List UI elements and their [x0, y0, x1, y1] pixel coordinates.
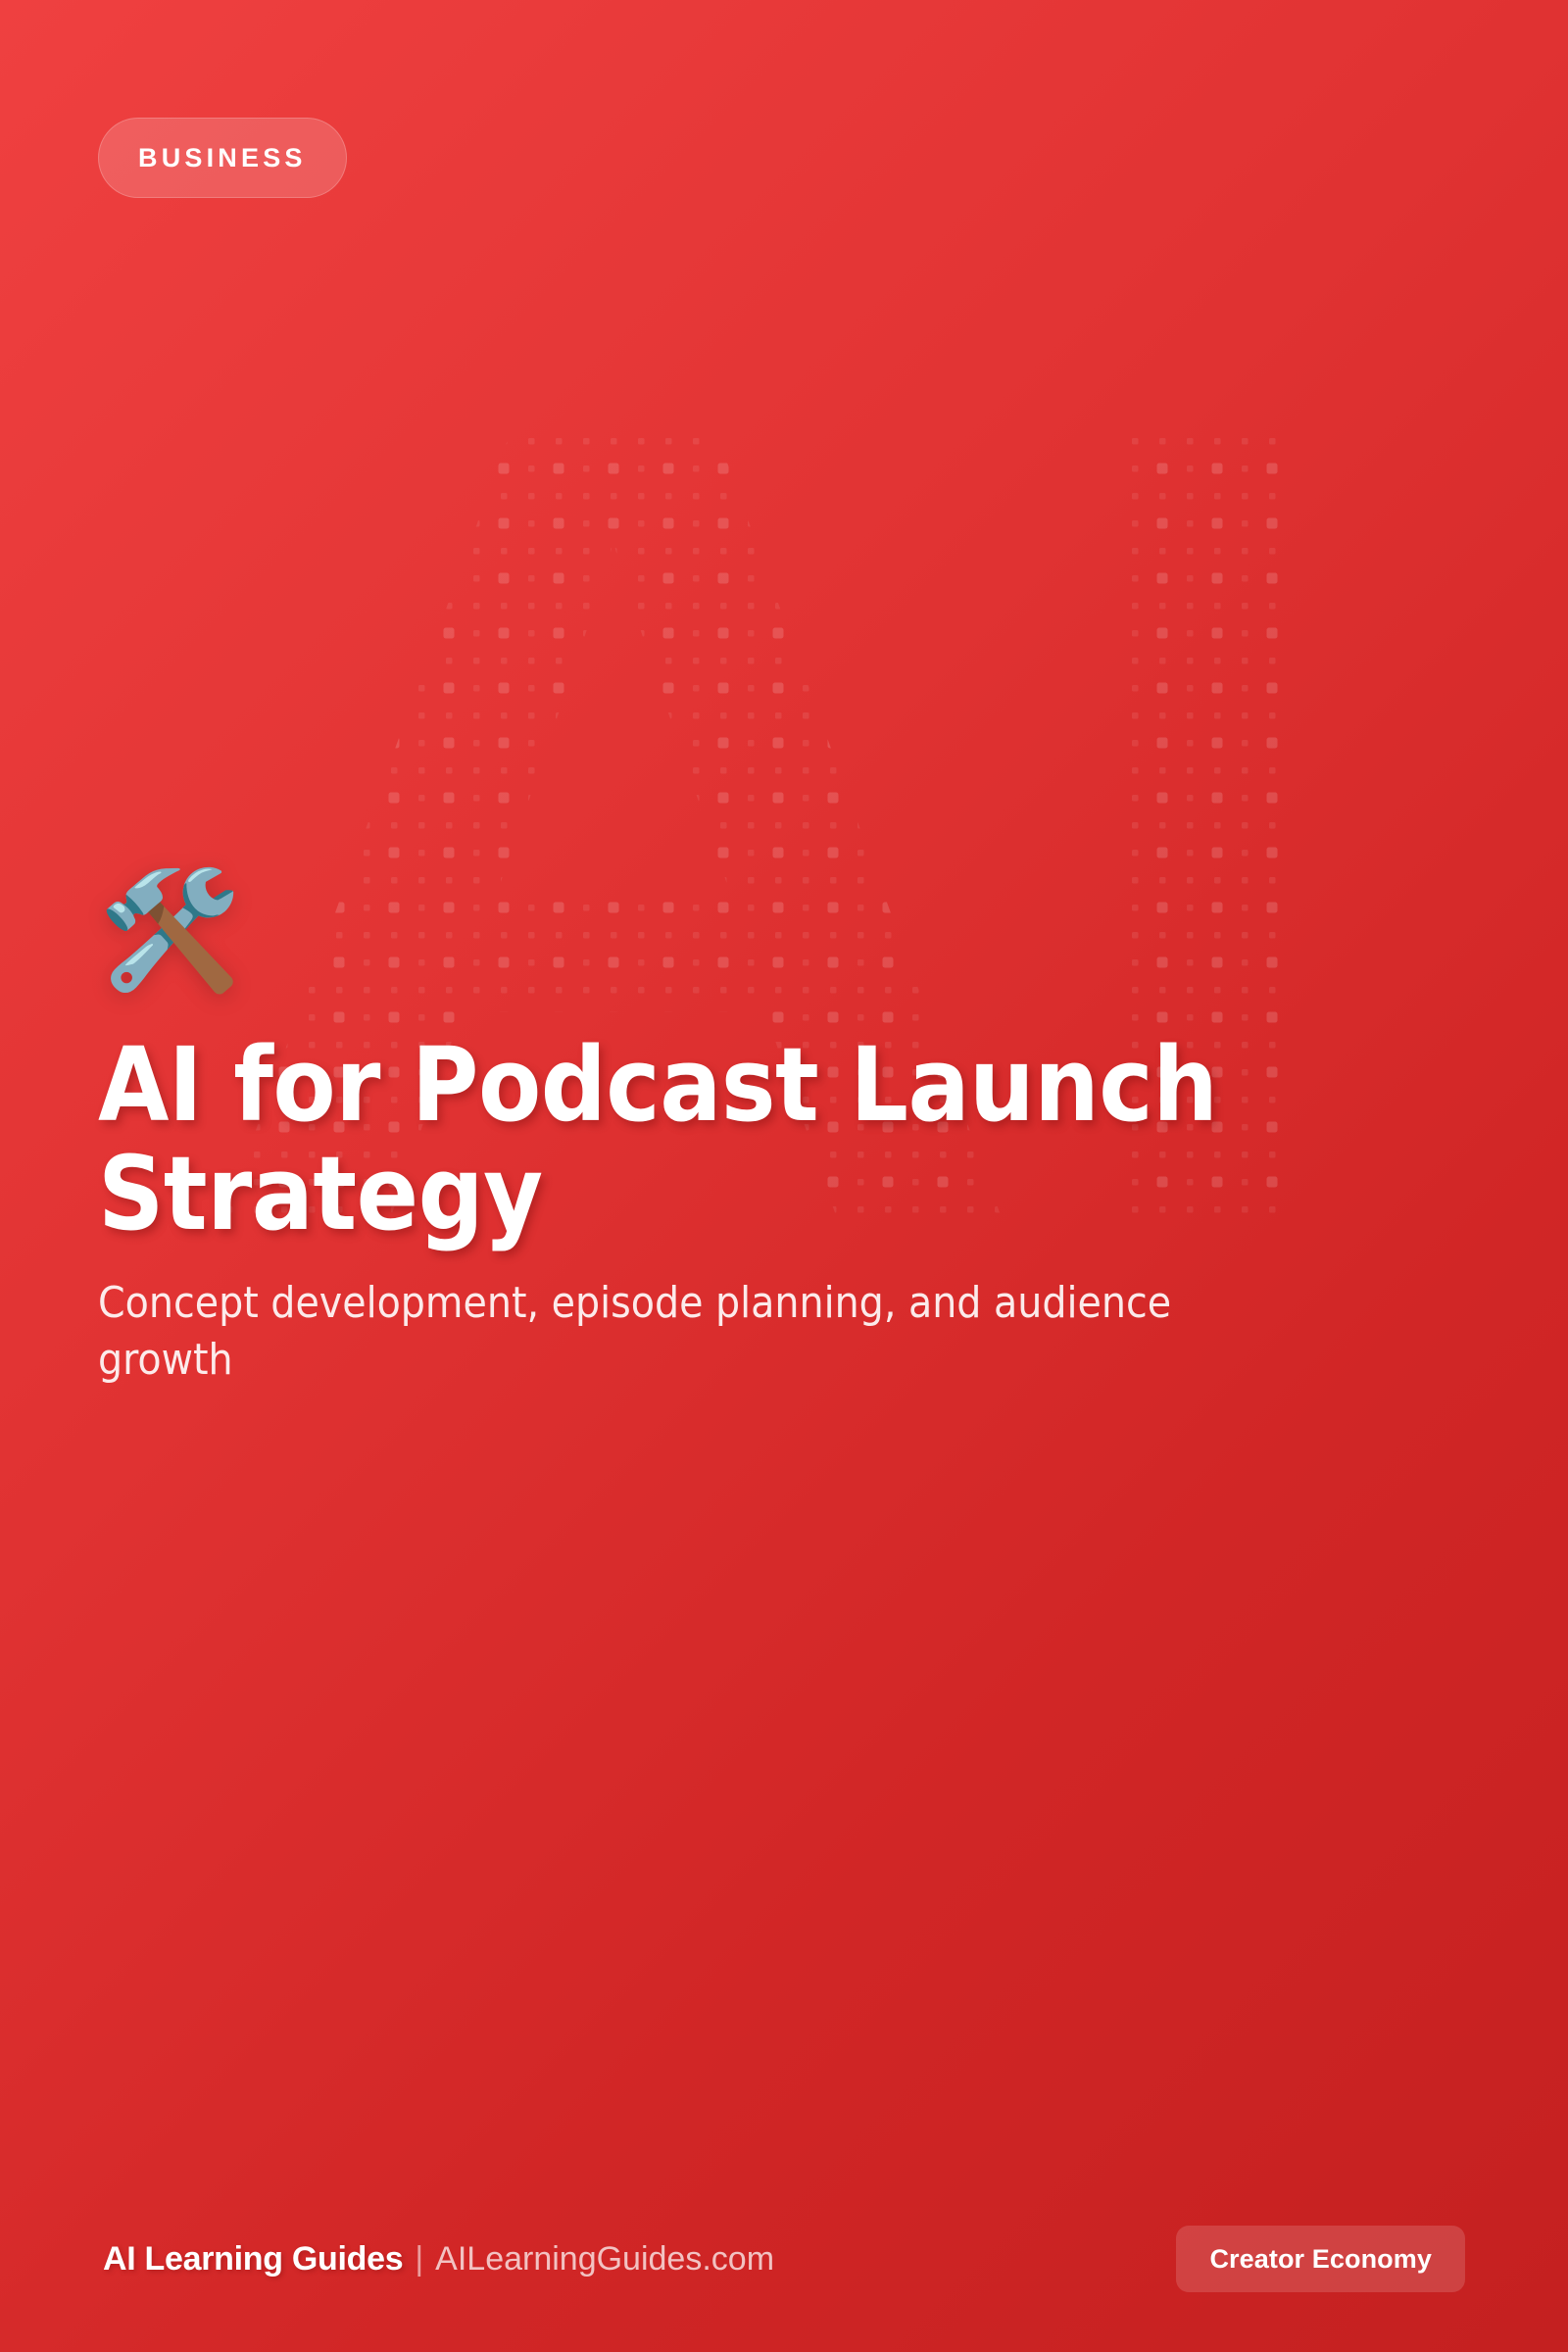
- brand-line: AI Learning Guides | AILearningGuides.co…: [103, 2240, 774, 2278]
- category-badge-label: BUSINESS: [138, 143, 307, 173]
- topic-badge-label: Creator Economy: [1209, 2244, 1432, 2275]
- hero-section: 🛠️ AI for Podcast Launch Strategy Concep…: [98, 872, 1401, 1390]
- hammer-and-wrench-icon: 🛠️: [98, 872, 1401, 1009]
- page-title: AI for Podcast Launch Strategy: [98, 1031, 1401, 1249]
- brand-name: AI Learning Guides: [103, 2240, 403, 2278]
- page-subtitle: Concept development, episode planning, a…: [98, 1275, 1225, 1390]
- brand-separator: |: [403, 2240, 435, 2278]
- category-badge: BUSINESS: [98, 118, 347, 198]
- topic-badge: Creator Economy: [1176, 2226, 1465, 2292]
- footer: AI Learning Guides | AILearningGuides.co…: [0, 2166, 1568, 2352]
- guide-cover: AI BUSINESS 🛠️ AI for Podcast Launch Str…: [0, 0, 1568, 2352]
- brand-website: AILearningGuides.com: [435, 2240, 774, 2278]
